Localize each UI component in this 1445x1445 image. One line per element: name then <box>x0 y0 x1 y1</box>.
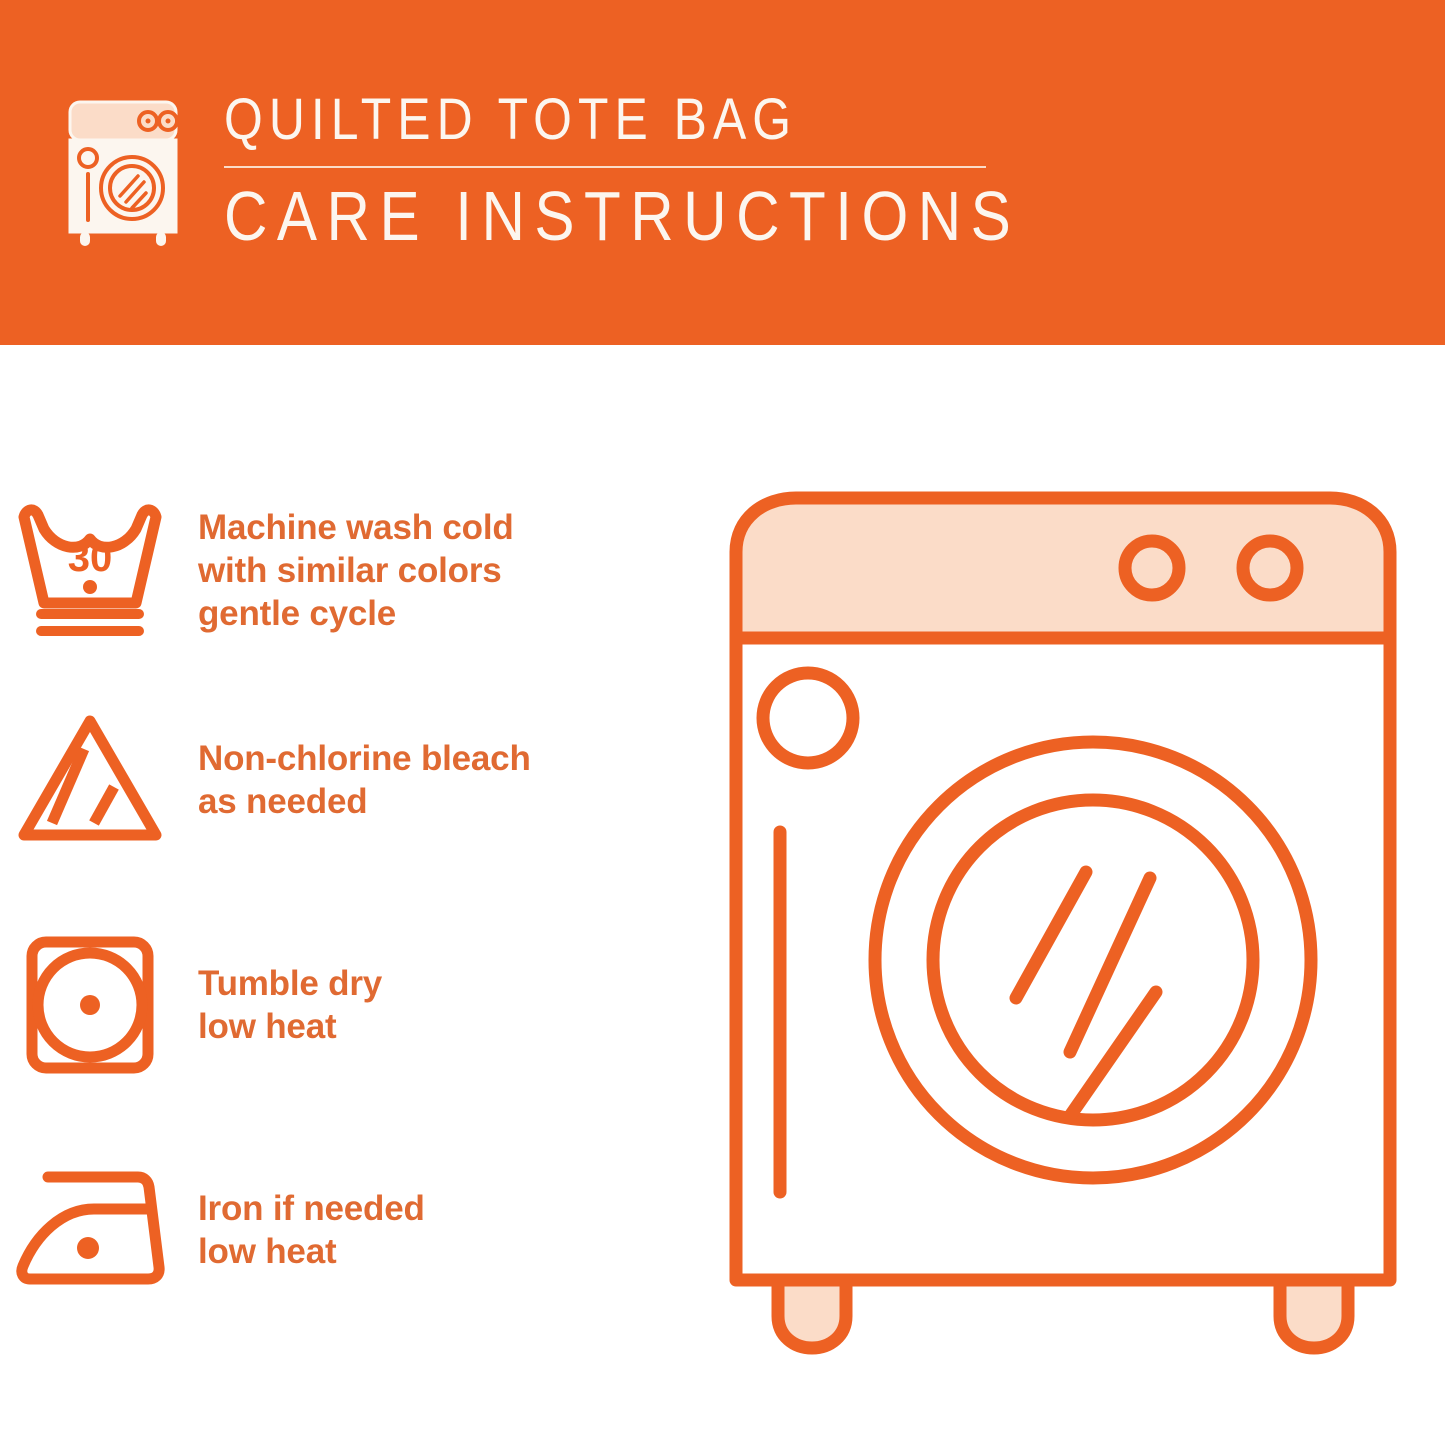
leg-left <box>778 1280 846 1348</box>
care-line: Iron if needed <box>198 1187 425 1230</box>
wash-tub-30-gentle-icon: 30 <box>0 495 180 645</box>
detergent-indicator-circle <box>763 673 853 763</box>
care-row-tumble-dry: Tumble dry low heat <box>0 925 700 1085</box>
page-title: QUILTED TOTE BAG <box>224 88 1020 152</box>
care-line: low heat <box>198 1005 382 1048</box>
care-label-tumble-dry: Tumble dry low heat <box>198 962 382 1048</box>
header-title-group: QUILTED TOTE BAG CARE INSTRUCTIONS <box>224 88 1150 254</box>
motion-line-1 <box>1016 872 1086 998</box>
care-label-bleach: Non-chlorine bleach as needed <box>198 737 531 823</box>
care-row-bleach: Non-chlorine bleach as needed <box>0 700 700 860</box>
care-row-iron: Iron if needed low heat <box>0 1150 700 1310</box>
title-divider <box>224 166 986 168</box>
care-line: gentle cycle <box>198 592 514 635</box>
tumble-dry-low-heat-icon <box>0 930 180 1080</box>
care-row-machine-wash: 30 Machine wash cold with similar colors… <box>0 490 700 650</box>
care-line: Non-chlorine bleach <box>198 737 531 780</box>
non-chlorine-bleach-triangle-icon <box>0 705 180 855</box>
header-content: QUILTED TOTE BAG CARE INSTRUCTIONS <box>62 88 1150 254</box>
wash-temperature-value: 30 <box>68 536 113 580</box>
care-instructions-infographic: QUILTED TOTE BAG CARE INSTRUCTIONS 30 Ma… <box>0 0 1445 1445</box>
leg-right <box>1280 1280 1348 1348</box>
care-label-iron: Iron if needed low heat <box>198 1187 425 1273</box>
header-banner: QUILTED TOTE BAG CARE INSTRUCTIONS <box>0 0 1445 345</box>
door-outer-ring <box>875 742 1311 1178</box>
care-line: low heat <box>198 1230 425 1273</box>
care-line: with similar colors <box>198 549 514 592</box>
care-line: as needed <box>198 780 531 823</box>
washing-machine-icon <box>62 96 184 248</box>
washing-machine-illustration <box>718 480 1408 1380</box>
iron-low-heat-icon <box>0 1155 180 1305</box>
page-subtitle: CARE INSTRUCTIONS <box>224 178 1020 254</box>
care-line: Tumble dry <box>198 962 382 1005</box>
care-label-machine-wash: Machine wash cold with similar colors ge… <box>198 506 514 635</box>
care-line: Machine wash cold <box>198 506 514 549</box>
